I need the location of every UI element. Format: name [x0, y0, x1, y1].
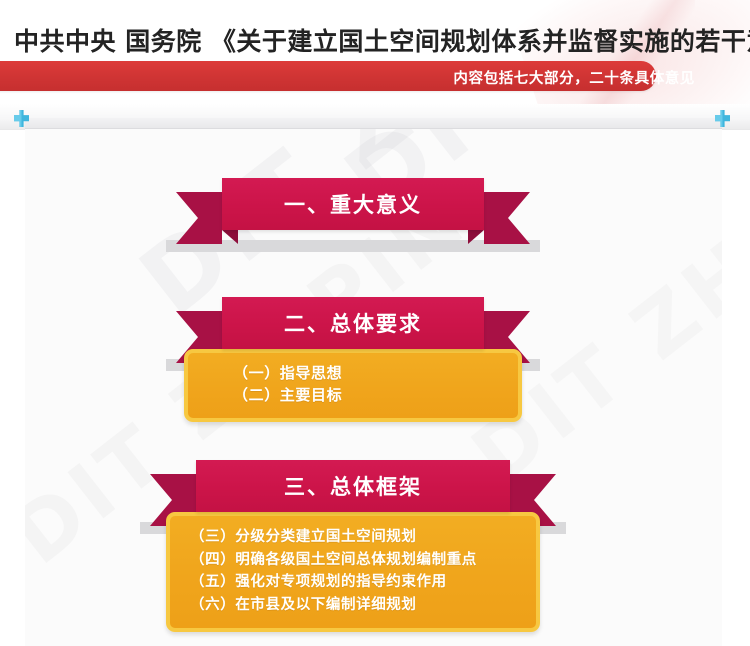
list-item[interactable]: （一）指导思想: [233, 363, 518, 385]
ribbon-band: 三、总体框架: [196, 460, 510, 512]
section-content-box-2: （一）指导思想 （二）主要目标: [184, 349, 522, 422]
section-title: 二、总体要求: [284, 308, 422, 338]
list-item[interactable]: （六）在市县及以下编制详细规划: [190, 594, 536, 617]
ribbon-banner-3[interactable]: 三、总体框架: [196, 460, 510, 512]
list-item[interactable]: （三）分级分类建立国土空间规划: [190, 526, 536, 549]
section-content-box-3: （三）分级分类建立国土空间规划 （四）明确各级国土空间总体规划编制重点 （五）强…: [166, 512, 540, 632]
section-block-1: 一、重大意义: [222, 178, 484, 230]
subtitle-text: 内容包括七大部分，二十条具体意见: [453, 67, 695, 88]
section-item-list: （三）分级分类建立国土空间规划 （四）明确各级国土空间总体规划编制重点 （五）强…: [170, 526, 536, 616]
plus-marker-icon-right: [715, 110, 730, 127]
section-item-list: （一）指导思想 （二）主要目标: [188, 363, 518, 406]
list-item[interactable]: （二）主要目标: [233, 385, 518, 407]
ribbon-band: 一、重大意义: [222, 178, 484, 230]
list-item[interactable]: （四）明确各级国土空间总体规划编制重点: [190, 549, 536, 572]
plus-marker-icon-left: [14, 110, 29, 127]
section-title: 三、总体框架: [284, 471, 422, 501]
list-item[interactable]: （五）强化对专项规划的指导约束作用: [190, 571, 536, 594]
section-block-2: 二、总体要求 （一）指导思想 （二）主要目标: [222, 297, 484, 422]
section-block-3: 三、总体框架 （三）分级分类建立国土空间规划 （四）明确各级国土空间总体规划编制…: [196, 460, 510, 632]
ribbon-band: 二、总体要求: [222, 297, 484, 349]
ribbon-banner-1[interactable]: 一、重大意义: [222, 178, 484, 230]
divider-inner-bar: [25, 118, 722, 129]
ribbon-shadow: [166, 240, 540, 252]
section-title: 一、重大意义: [284, 189, 422, 219]
page-title: 中共中央 国务院 《关于建立国土空间规划体系并监督实施的若干意见》: [14, 22, 750, 58]
ribbon-banner-2[interactable]: 二、总体要求: [222, 297, 484, 349]
page-header: 中共中央 国务院 《关于建立国土空间规划体系并监督实施的若干意见》 内容包括七大…: [0, 0, 750, 104]
